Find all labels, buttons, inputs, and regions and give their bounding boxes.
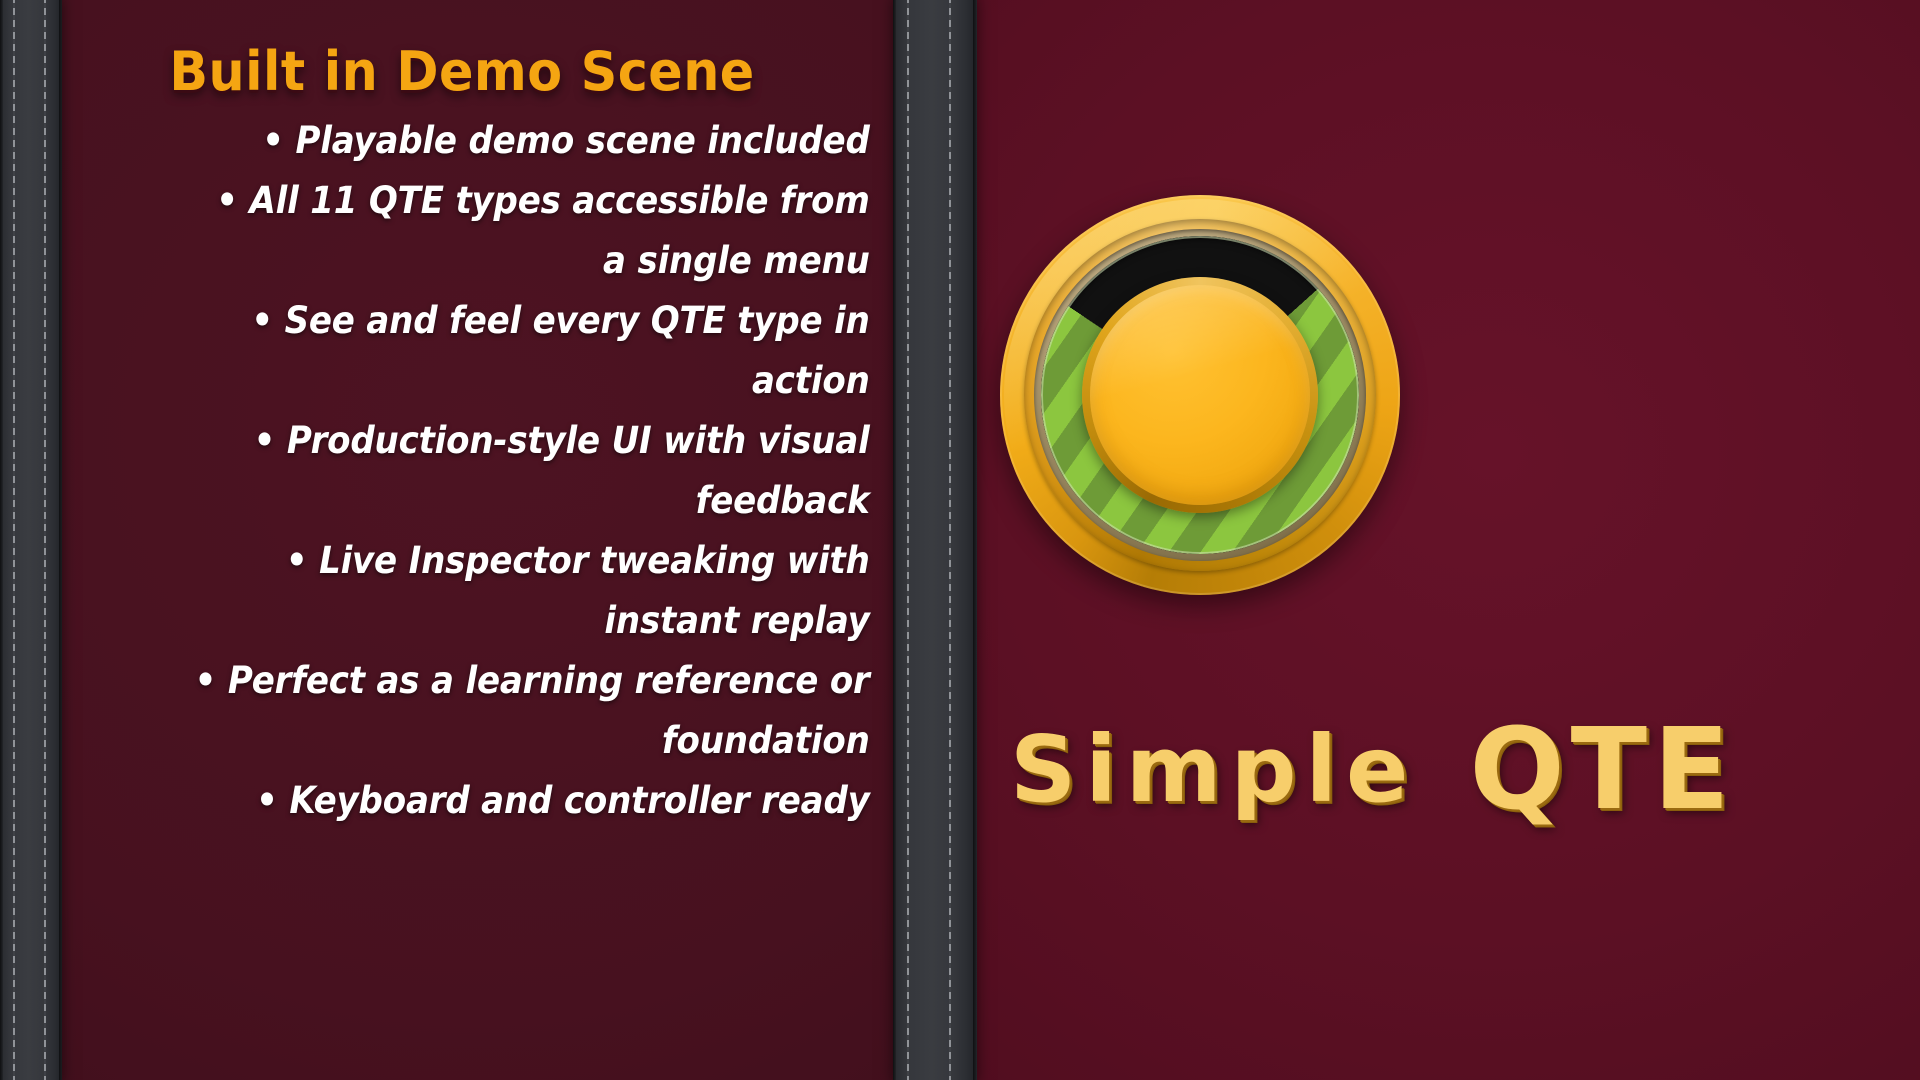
strap-stitch xyxy=(44,0,46,1080)
strap-stitch xyxy=(949,0,951,1080)
list-item: Live Inspector tweaking with instant rep… xyxy=(190,531,877,651)
promo-banner: Built in Demo Scene Playable demo scene … xyxy=(0,0,1920,1080)
page-title: Built in Demo Scene xyxy=(170,40,755,103)
logo-hub xyxy=(1090,285,1310,505)
strap-stitch xyxy=(907,0,909,1080)
strap-groove xyxy=(0,0,3,1080)
list-item: See and feel every QTE type in action xyxy=(190,291,877,411)
list-item: All 11 QTE types accessible from a singl… xyxy=(190,171,877,291)
wordmark-qte: QTE xyxy=(1469,714,1735,826)
list-item: Perfect as a learning reference or found… xyxy=(190,651,877,771)
list-item: Playable demo scene included xyxy=(190,111,877,171)
list-item: Production-style UI with visual feedback xyxy=(190,411,877,531)
center-strap-divider xyxy=(893,0,977,1080)
brand-wordmark: Simple QTE xyxy=(1010,700,1910,840)
strap-stitch xyxy=(13,0,15,1080)
feature-list-panel: Built in Demo Scene Playable demo scene … xyxy=(60,0,895,1080)
list-item: Keyboard and controller ready xyxy=(190,771,877,831)
qte-logo xyxy=(1000,195,1400,595)
strap-groove xyxy=(973,0,976,1080)
wordmark-simple: Simple xyxy=(1010,724,1417,816)
feature-bullet-list: Playable demo scene included All 11 QTE … xyxy=(130,111,877,831)
left-strap-divider xyxy=(0,0,62,1080)
